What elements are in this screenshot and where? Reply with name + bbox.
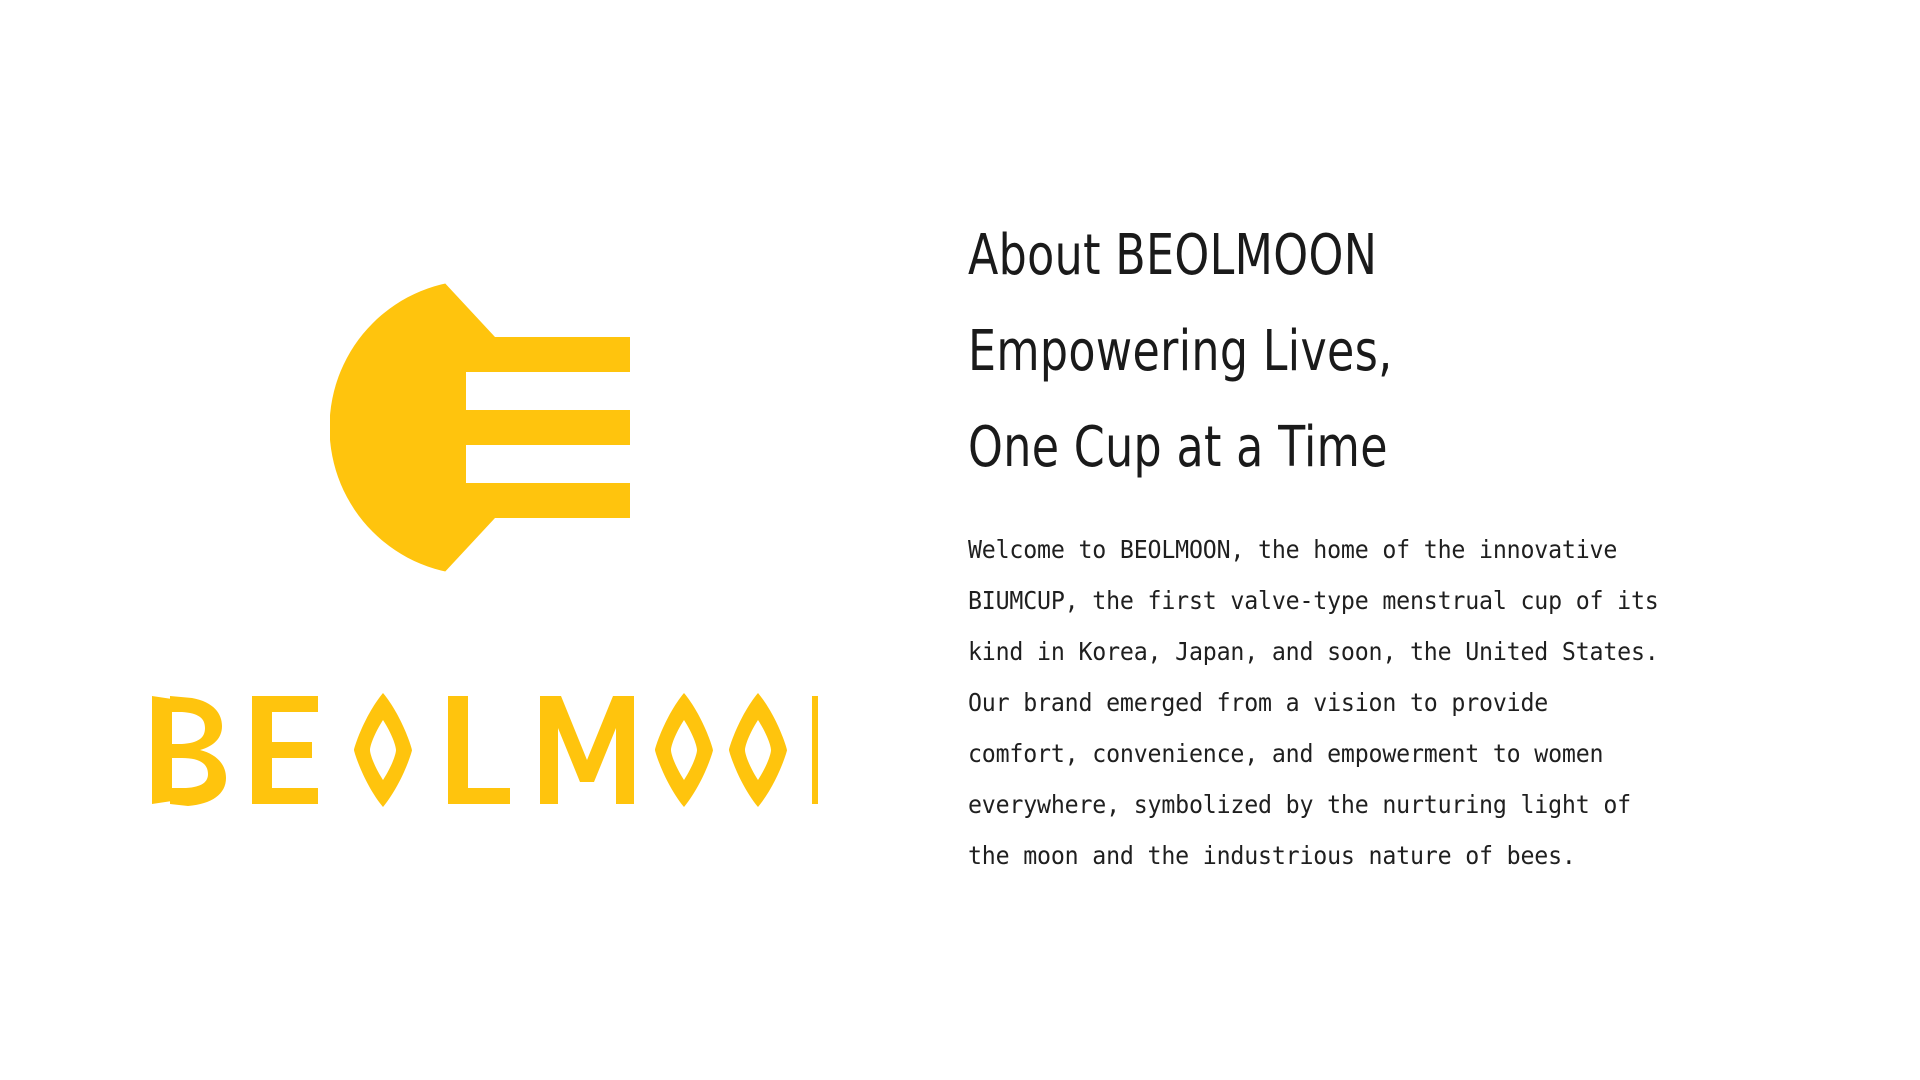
body-line-6: everywhere, symbolized by the nurturing … [968, 779, 1712, 830]
about-beolmoon-page: About BEOLMOON Empowering Lives, One Cup… [0, 0, 1920, 1080]
body-line-4: Our brand emerged from a vision to provi… [968, 677, 1712, 728]
page-title: About BEOLMOON Empowering Lives, One Cup… [968, 208, 1654, 496]
body-line-3: kind in Korea, Japan, and soon, the Unit… [968, 626, 1712, 677]
headline-line-1: About BEOLMOON [968, 208, 1654, 304]
body-line-5: comfort, convenience, and empowerment to… [968, 728, 1712, 779]
about-copy-block: About BEOLMOON Empowering Lives, One Cup… [968, 0, 1748, 1080]
beolmoon-wordmark [148, 690, 818, 810]
headline-line-3: One Cup at a Time [968, 400, 1654, 496]
body-line-2: BIUMCUP, the first valve-type menstrual … [968, 575, 1712, 626]
brand-block [0, 0, 960, 1080]
about-body-text: Welcome to BEOLMOON, the home of the inn… [968, 524, 1712, 881]
body-line-1: Welcome to BEOLMOON, the home of the inn… [968, 524, 1712, 575]
beolmoon-crescent-logo-icon [330, 280, 630, 575]
headline-line-2: Empowering Lives, [968, 304, 1654, 400]
body-line-7: the moon and the industrious nature of b… [968, 830, 1712, 881]
